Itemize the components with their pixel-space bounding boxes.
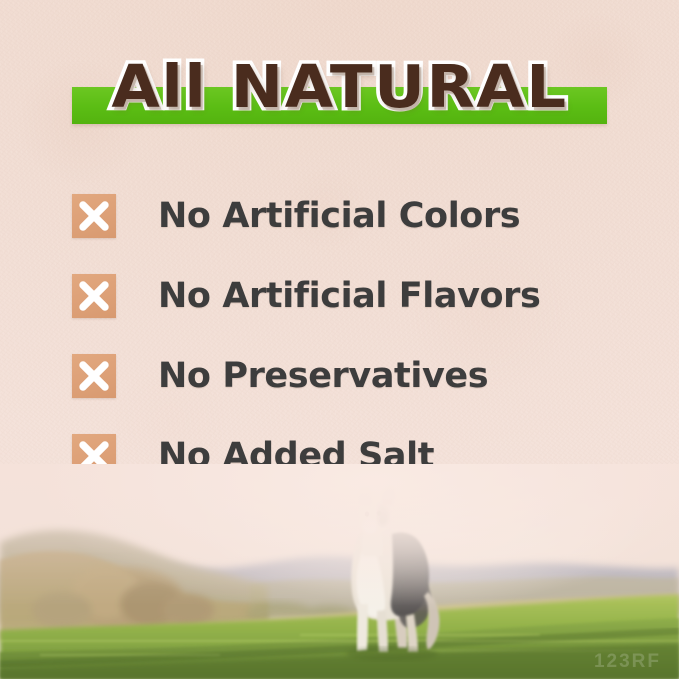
feature-label: No Artificial Flavors — [158, 276, 540, 316]
list-item: No Artificial Flavors — [72, 256, 632, 336]
all-natural-poster: All NATURAL No Artificial Colors — [0, 0, 679, 679]
x-mark-icon — [72, 194, 116, 238]
x-mark-icon — [72, 354, 116, 398]
headline-block: All NATURAL — [0, 46, 679, 132]
list-item: No Preservatives — [72, 336, 632, 416]
feature-label: No Preservatives — [158, 356, 488, 396]
page-title: All NATURAL — [0, 46, 679, 128]
landscape-photo: 123RF — [0, 464, 679, 679]
feature-label: No Artificial Colors — [158, 196, 520, 236]
x-mark-icon — [72, 274, 116, 318]
landscape-illustration — [0, 464, 679, 679]
feature-list: No Artificial Colors No Artificial Flavo… — [72, 176, 632, 496]
list-item: No Artificial Colors — [72, 176, 632, 256]
